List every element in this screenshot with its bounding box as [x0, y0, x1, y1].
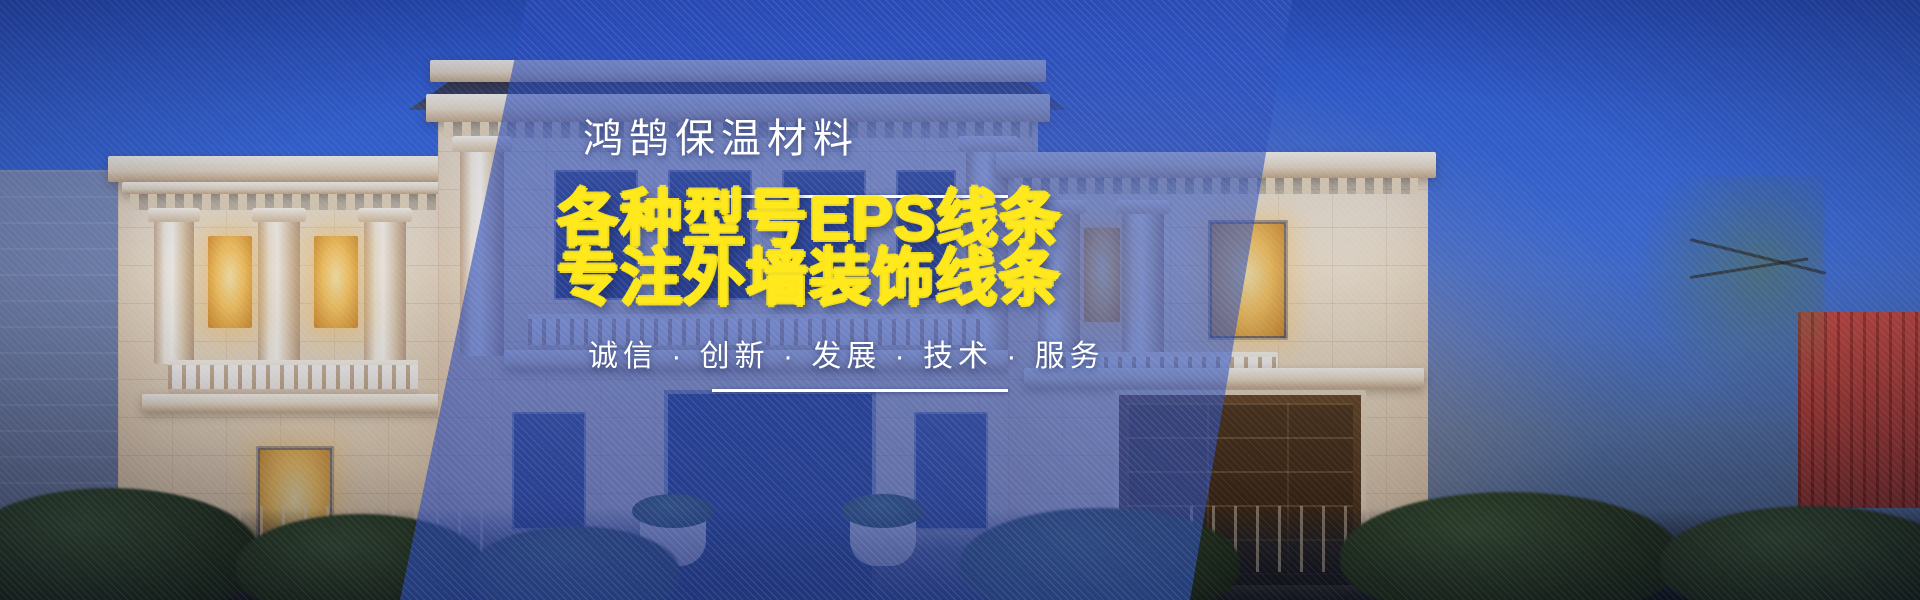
hero-banner: 鸿鹄保温材料 各种型号EPS线条 专注外墙装饰线条 诚信 · 创新 · 发展 ·… [0, 0, 1920, 600]
